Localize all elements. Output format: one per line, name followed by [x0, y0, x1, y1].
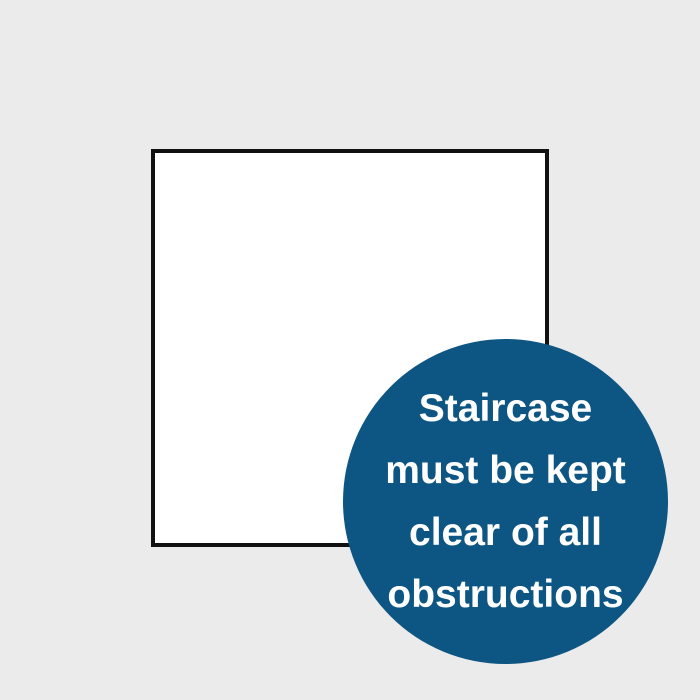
sign-message: Staircase must be kept clear of all obst… [343, 378, 668, 626]
sign-message-line-2: must be kept [343, 440, 668, 502]
sign-canvas: Staircase must be kept clear of all obst… [0, 0, 700, 700]
sign-plate: Staircase must be kept clear of all obst… [151, 149, 549, 547]
sign-blue-disc-icon: Staircase must be kept clear of all obst… [343, 339, 668, 664]
sign-message-line-3: clear of all [343, 502, 668, 564]
sign-message-line-1: Staircase [343, 378, 668, 440]
sign-message-line-4: obstructions [343, 564, 668, 626]
